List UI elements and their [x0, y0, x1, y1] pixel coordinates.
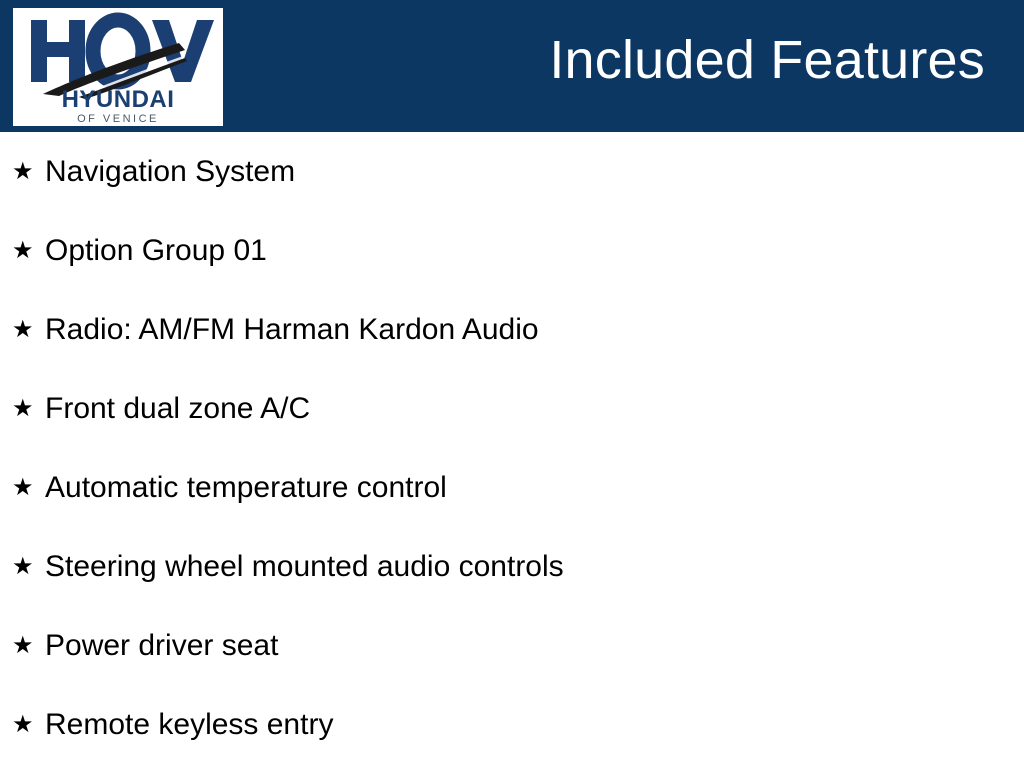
list-item: ★ Remote keyless entry [0, 685, 1024, 764]
page-title: Included Features [549, 28, 985, 92]
hov-logo-icon: HYUNDAI OF VENICE [13, 8, 223, 126]
list-item: ★ Steering wheel mounted audio controls [0, 527, 1024, 606]
slide-included-features: Included Features HYUNDAI [0, 0, 1024, 768]
star-icon: ★ [12, 555, 34, 579]
list-item: ★ Power driver seat [0, 606, 1024, 685]
list-item-label: Option Group 01 [45, 233, 267, 269]
list-item-label: Radio: AM/FM Harman Kardon Audio [45, 312, 539, 348]
list-item: ★ Navigation System [0, 132, 1024, 211]
star-icon: ★ [12, 160, 34, 184]
star-icon: ★ [12, 397, 34, 421]
list-item: ★ Front dual zone A/C [0, 369, 1024, 448]
list-item-label: Power driver seat [45, 628, 278, 664]
list-item-label: Remote keyless entry [45, 707, 333, 743]
star-icon: ★ [12, 476, 34, 500]
dealer-logo: HYUNDAI OF VENICE [13, 8, 223, 126]
list-item: ★ Option Group 01 [0, 211, 1024, 290]
list-item-label: Automatic temperature control [45, 470, 447, 506]
star-icon: ★ [12, 634, 34, 658]
star-icon: ★ [12, 713, 34, 737]
list-item-label: Front dual zone A/C [45, 391, 310, 427]
star-icon: ★ [12, 318, 34, 342]
list-item: ★ Automatic temperature control [0, 448, 1024, 527]
logo-sub-line: OF VENICE [77, 113, 159, 125]
list-item-label: Steering wheel mounted audio controls [45, 549, 564, 585]
logo-brand-line: HYUNDAI [62, 86, 175, 113]
star-icon: ★ [12, 239, 34, 263]
list-item: ★ Radio: AM/FM Harman Kardon Audio [0, 290, 1024, 369]
list-item-label: Navigation System [45, 154, 295, 190]
included-features-list: ★ Navigation System ★ Option Group 01 ★ … [0, 132, 1024, 764]
